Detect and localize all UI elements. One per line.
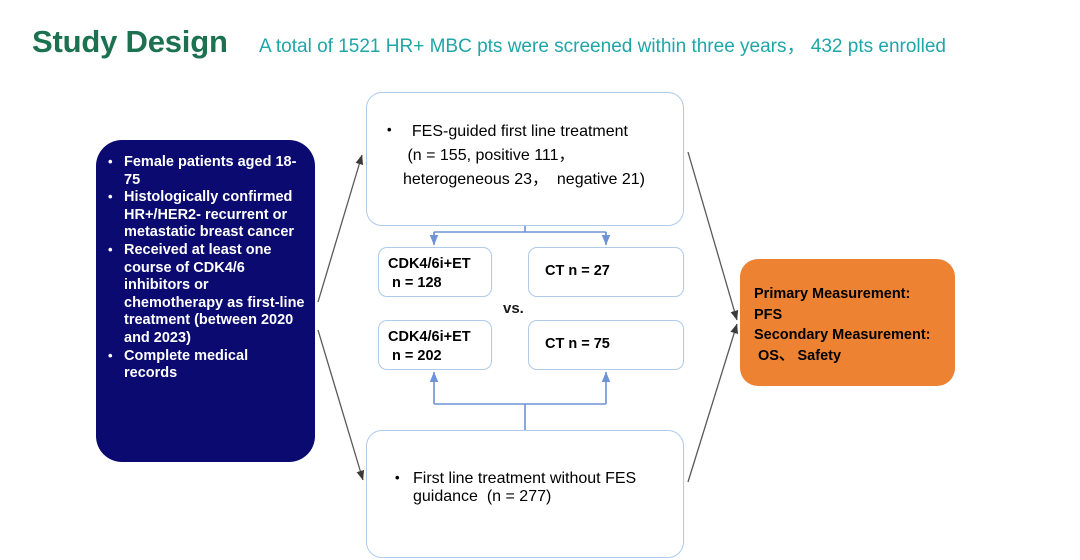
- connector-criteria-to-nofes: [318, 330, 363, 480]
- text-line: Primary Measurement:: [754, 284, 954, 305]
- arm-label: CDK4/6i+ET n = 202: [388, 328, 471, 365]
- text-line: heterogeneous 23， negative 21): [403, 165, 681, 189]
- page-subtitle: A total of 1521 HR+ MBC pts were screene…: [259, 31, 946, 58]
- text-line: (n = 155, positive 111，: [403, 141, 681, 165]
- text-line: First line treatment without FES: [413, 470, 675, 488]
- bullet-icon: •: [387, 122, 392, 137]
- arm-box-ct-75: CT n = 75: [528, 320, 684, 370]
- arm-box-cdk46i-et-202: CDK4/6i+ET n = 202: [378, 320, 492, 370]
- fes-guided-treatment-text: FES-guided first line treatment (n = 155…: [403, 123, 681, 189]
- list-item: Complete medical records: [124, 348, 305, 383]
- text-line: guidance (n = 277): [413, 488, 675, 506]
- connector-fes-to-outcome: [688, 152, 737, 320]
- text-line: FES-guided first line treatment: [403, 123, 681, 141]
- bracket-fes-split: [434, 226, 606, 240]
- text-line: PFS: [754, 305, 954, 326]
- list-item: Received at least one course of CDK4/6 i…: [124, 242, 305, 348]
- study-design-slide: Study Design A total of 1521 HR+ MBC pts…: [0, 0, 1080, 560]
- list-item: Female patients aged 18-75: [124, 154, 305, 189]
- connector-nofes-to-outcome: [688, 324, 737, 482]
- outcome-measurements-text: Primary Measurement: PFS Secondary Measu…: [754, 284, 954, 366]
- inclusion-criteria-box: Female patients aged 18-75 Histologicall…: [96, 140, 315, 462]
- arm-box-cdk46i-et-128: CDK4/6i+ET n = 128: [378, 247, 492, 297]
- no-fes-guidance-box: • First line treatment without FES guida…: [366, 430, 684, 558]
- text-line: Secondary Measurement:: [754, 325, 954, 346]
- arm-label: CT n = 75: [545, 335, 610, 354]
- arm-label: CDK4/6i+ET n = 128: [388, 255, 471, 292]
- bullet-icon: •: [395, 470, 400, 485]
- connector-criteria-to-fes: [318, 155, 362, 302]
- bracket-nofes-split: [434, 404, 606, 430]
- no-fes-guidance-text: First line treatment without FES guidanc…: [413, 470, 675, 506]
- list-item: Histologically confirmed HR+/HER2- recur…: [124, 189, 305, 242]
- fes-guided-treatment-box: • FES-guided first line treatment (n = 1…: [366, 92, 684, 226]
- inclusion-criteria-list: Female patients aged 18-75 Histologicall…: [96, 140, 315, 383]
- slide-header: Study Design A total of 1521 HR+ MBC pts…: [0, 0, 1080, 76]
- page-title: Study Design: [32, 24, 228, 60]
- outcome-measurements-box: Primary Measurement: PFS Secondary Measu…: [740, 259, 955, 386]
- text-line: OS、 Safety: [754, 346, 954, 367]
- arm-label: CT n = 27: [545, 262, 610, 281]
- arm-box-ct-27: CT n = 27: [528, 247, 684, 297]
- comparison-label: vs.: [503, 300, 524, 317]
